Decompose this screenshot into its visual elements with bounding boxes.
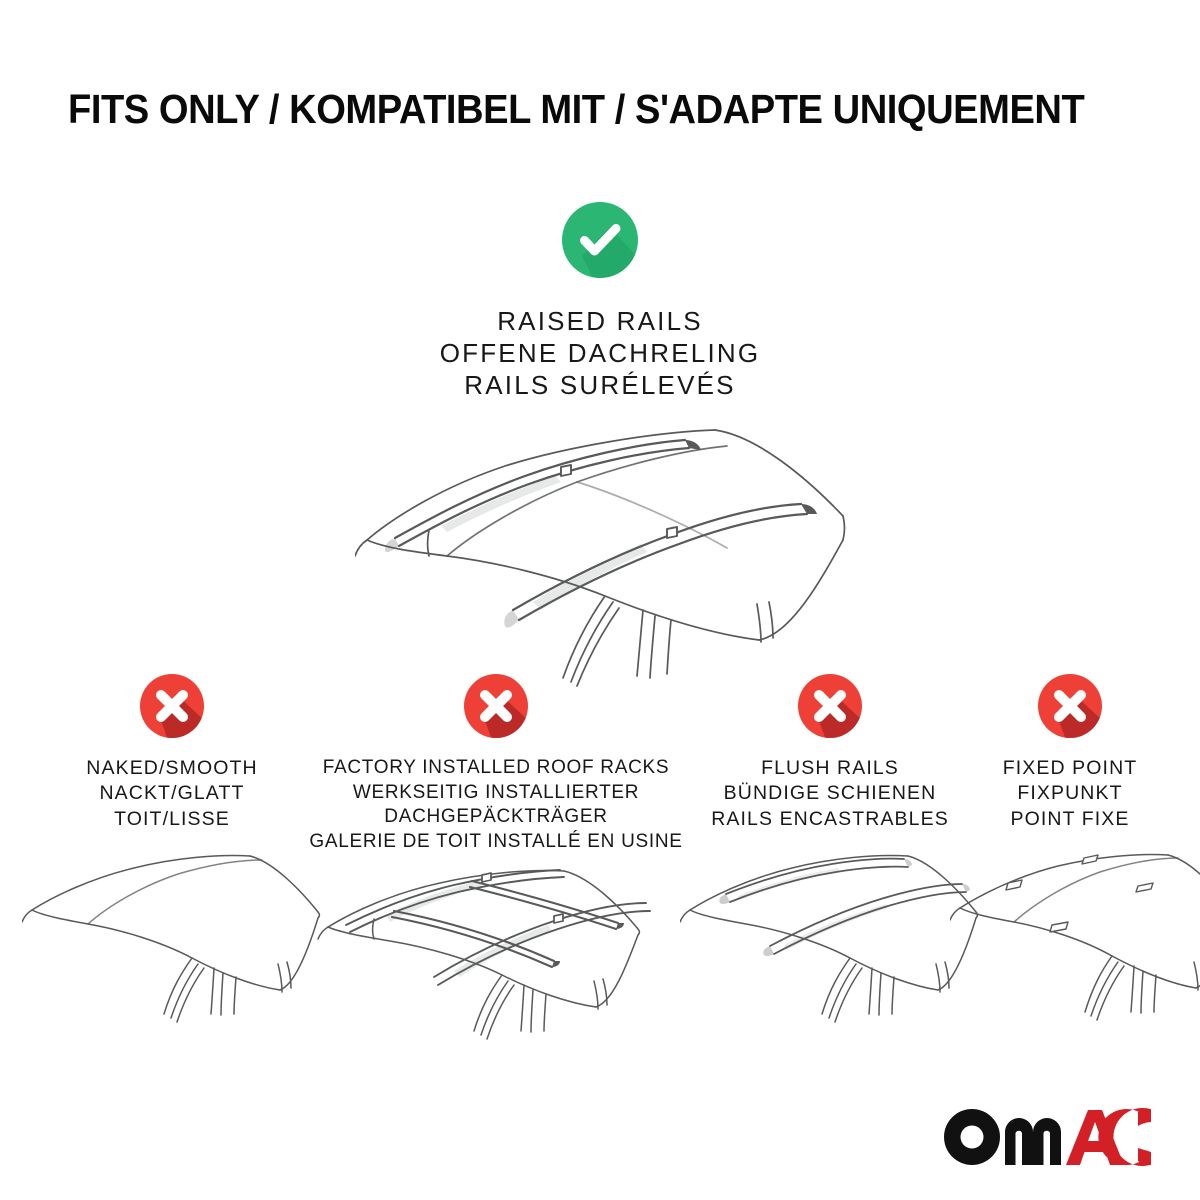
label-line-3: POINT FIXE — [950, 807, 1190, 832]
page-title: FITS ONLY / KOMPATIBEL MIT / S'ADAPTE UN… — [68, 88, 1063, 131]
compatible-label-en: RAISED RAILS — [0, 306, 1200, 338]
car-roof-fixed-point-illustration — [950, 846, 1190, 1046]
omac-logo — [942, 1106, 1152, 1168]
incompatible-labels: NAKED/SMOOTH NACKT/GLATT TOIT/LISSE — [22, 756, 322, 832]
compatible-section: RAISED RAILS OFFENE DACHRELING RAILS SUR… — [0, 200, 1200, 402]
label-line-3: DACHGEPÄCKTRÄGER — [300, 805, 692, 830]
logo-letter-o — [944, 1109, 1000, 1165]
label-line-1: FIXED POINT — [950, 756, 1190, 781]
incompatible-item-naked-smooth: NAKED/SMOOTH NACKT/GLATT TOIT/LISSE — [22, 672, 322, 1046]
label-line-1: FACTORY INSTALLED ROOF RACKS — [300, 756, 692, 781]
logo-letter-c — [1098, 1108, 1152, 1166]
label-line-2: WERKSEITIG INSTALLIERTER — [300, 781, 692, 806]
car-roof-raised-rails-illustration — [355, 420, 855, 700]
x-circle-icon — [796, 672, 864, 740]
label-line-3: TOIT/LISSE — [22, 807, 322, 832]
compatible-label-de: OFFENE DACHRELING — [0, 338, 1200, 370]
label-line-1: FLUSH RAILS — [680, 756, 980, 781]
label-line-2: BÜNDIGE SCHIENEN — [680, 781, 980, 806]
logo-letter-m — [1005, 1118, 1061, 1165]
incompatible-item-flush-rails: FLUSH RAILS BÜNDIGE SCHIENEN RAILS ENCAS… — [680, 672, 980, 1046]
x-circle-icon — [138, 672, 206, 740]
incompatible-item-fixed-point: FIXED POINT FIXPUNKT POINT FIXE — [950, 672, 1190, 1046]
incompatible-labels: FIXED POINT FIXPUNKT POINT FIXE — [950, 756, 1190, 832]
label-line-2: FIXPUNKT — [950, 781, 1190, 806]
label-line-1: NAKED/SMOOTH — [22, 756, 322, 781]
check-circle-icon — [560, 200, 640, 280]
incompatible-item-factory-racks: FACTORY INSTALLED ROOF RACKS WERKSEITIG … — [300, 672, 692, 1051]
compatible-labels: RAISED RAILS OFFENE DACHRELING RAILS SUR… — [0, 306, 1200, 402]
incompatible-labels: FLUSH RAILS BÜNDIGE SCHIENEN RAILS ENCAS… — [680, 756, 980, 832]
label-line-2: NACKT/GLATT — [22, 781, 322, 806]
label-line-3: RAILS ENCASTRABLES — [680, 807, 980, 832]
car-roof-flush-rails-illustration — [680, 846, 980, 1046]
compatible-label-fr: RAILS SURÉLEVÉS — [0, 370, 1200, 402]
x-circle-icon — [462, 672, 530, 740]
incompatible-labels: FACTORY INSTALLED ROOF RACKS WERKSEITIG … — [300, 756, 692, 855]
car-roof-factory-racks-illustration — [300, 851, 692, 1051]
x-circle-icon — [1036, 672, 1104, 740]
car-roof-naked-smooth-illustration — [22, 846, 322, 1046]
